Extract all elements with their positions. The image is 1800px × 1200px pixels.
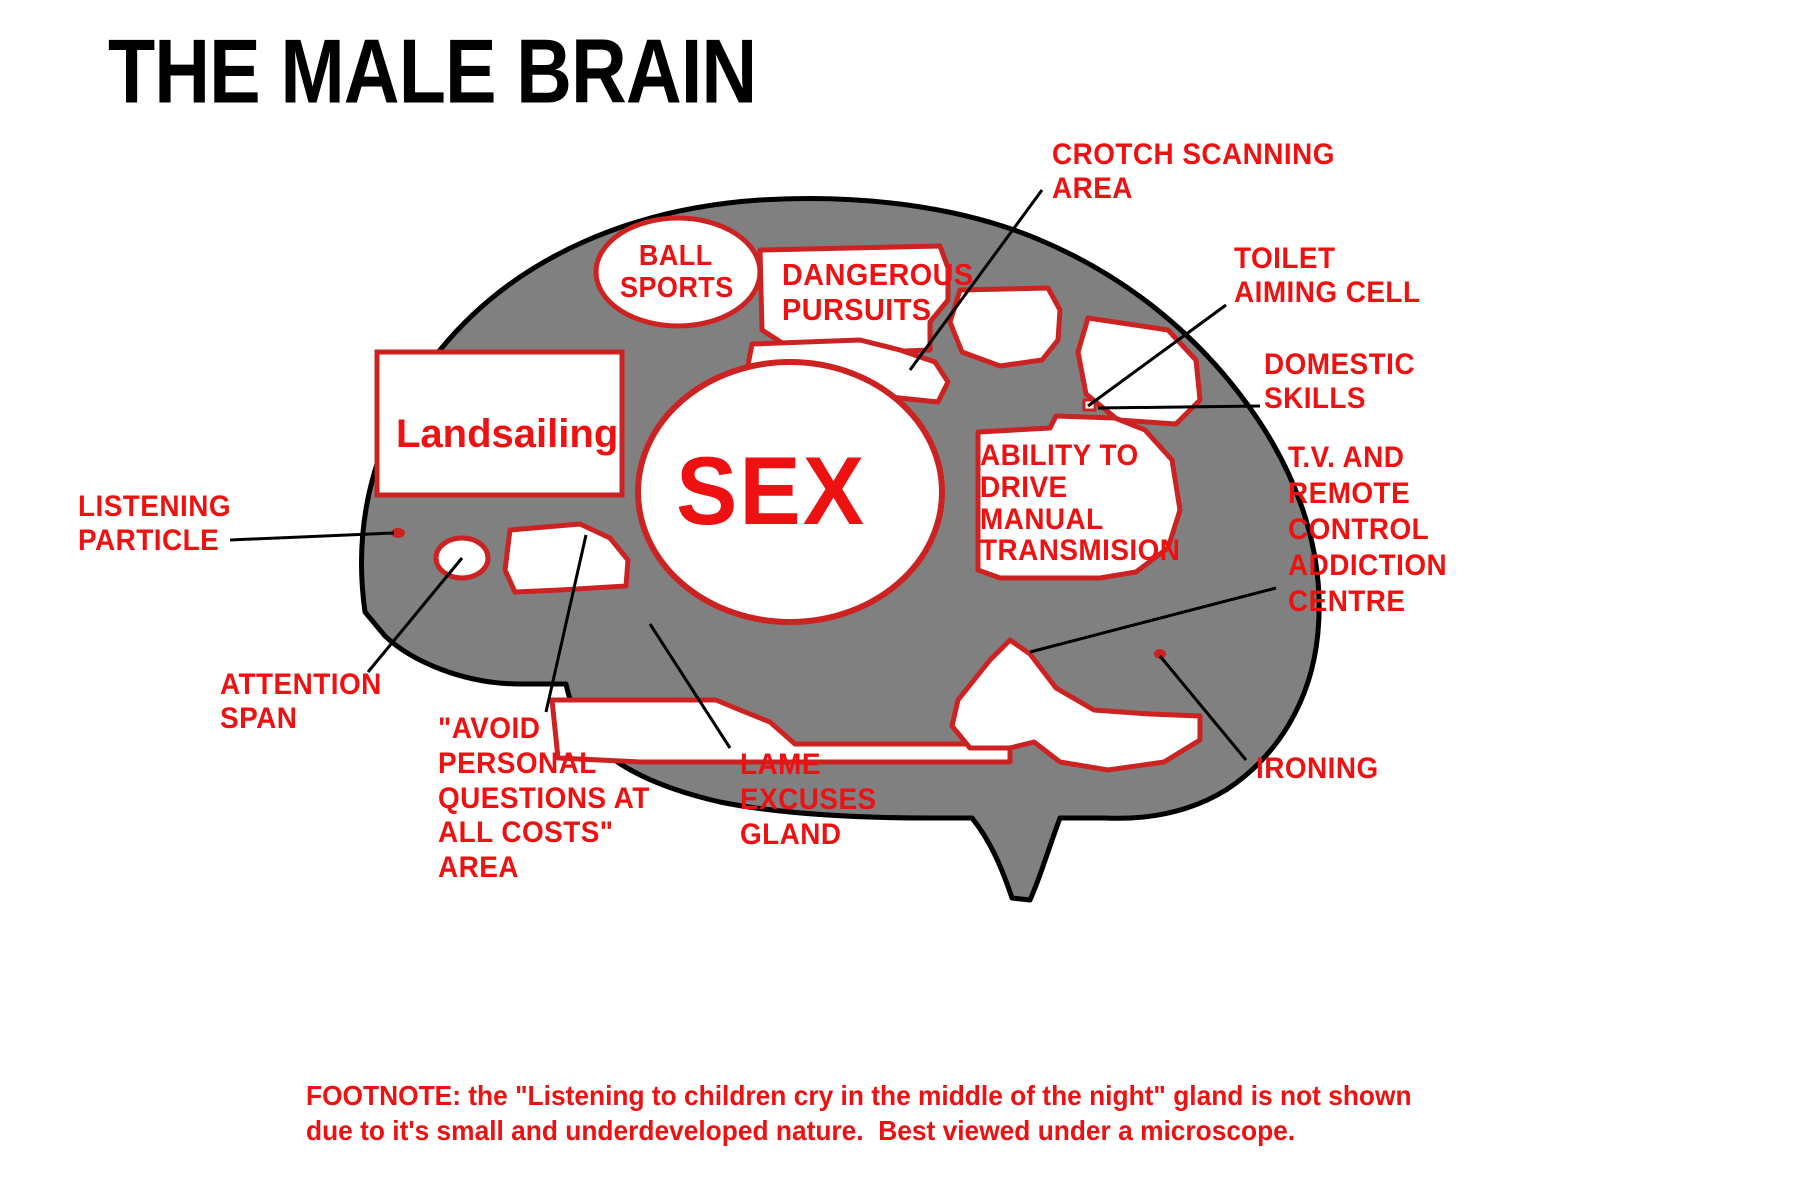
- leader-domestic-skills: [1098, 406, 1260, 408]
- region-label-dangerous-pursuits: DANGEROUS PURSUITS: [782, 258, 974, 327]
- marker-attention-span: [391, 528, 405, 538]
- page-title: THE MALE BRAIN: [108, 26, 756, 117]
- callout-crotch-scanning-area: CROTCH SCANNING AREA: [1052, 138, 1335, 205]
- region-label-ball-sports: BALL SPORTS: [620, 240, 732, 305]
- footnote-line-1: FOOTNOTE: the "Listening to children cry…: [306, 1078, 1490, 1113]
- footnote: FOOTNOTE: the "Listening to children cry…: [306, 1078, 1490, 1148]
- leader-avoid-personal: [546, 535, 586, 712]
- callout-tv-remote-control-addiction-centre: T.V. AND REMOTE CONTROL ADDICTION CENTRE: [1288, 440, 1447, 620]
- callout-lame-excuses-gland: LAME EXCUSES GLAND: [740, 748, 877, 852]
- leader-toilet-aiming: [1088, 305, 1226, 406]
- male-brain-diagram: THE MALE BRAIN: [0, 0, 1800, 1200]
- callout-avoid-personal-questions-area: "AVOID PERSONAL QUESTIONS AT ALL COSTS" …: [438, 712, 650, 886]
- callout-toilet-aiming-cell: TOILET AIMING CELL: [1234, 242, 1420, 309]
- leader-tv-remote: [1030, 588, 1276, 652]
- leader-attention-span: [368, 558, 462, 672]
- marker-ironing: [1154, 649, 1166, 659]
- callout-domestic-skills: DOMESTIC SKILLS: [1264, 348, 1415, 415]
- callout-listening-particle: LISTENING PARTICLE: [78, 490, 231, 557]
- leader-lame-excuses: [650, 624, 730, 748]
- footnote-line-2: due to it's small and underdeveloped nat…: [306, 1113, 1490, 1148]
- region-toilet-aiming: [1078, 318, 1200, 424]
- region-upper-mid-lobe: [744, 340, 948, 402]
- leader-listening-particle: [230, 533, 394, 540]
- callout-ironing: IRONING: [1256, 752, 1379, 786]
- region-tv-remote-addiction: [952, 640, 1200, 770]
- region-domestic-skills: [1084, 400, 1095, 410]
- region-listening-particle: [436, 538, 488, 578]
- region-label-ability-to-drive: ABILITY TO DRIVE MANUAL TRANSMISION: [980, 440, 1180, 567]
- region-label-landsailing: Landsailing: [396, 412, 618, 457]
- callout-attention-span: ATTENTION SPAN: [220, 668, 382, 735]
- region-lower-mid-lobe: [505, 524, 628, 592]
- leader-ironing: [1160, 656, 1246, 760]
- brain-illustration: [0, 0, 1800, 1200]
- region-label-sex: SEX: [676, 437, 866, 547]
